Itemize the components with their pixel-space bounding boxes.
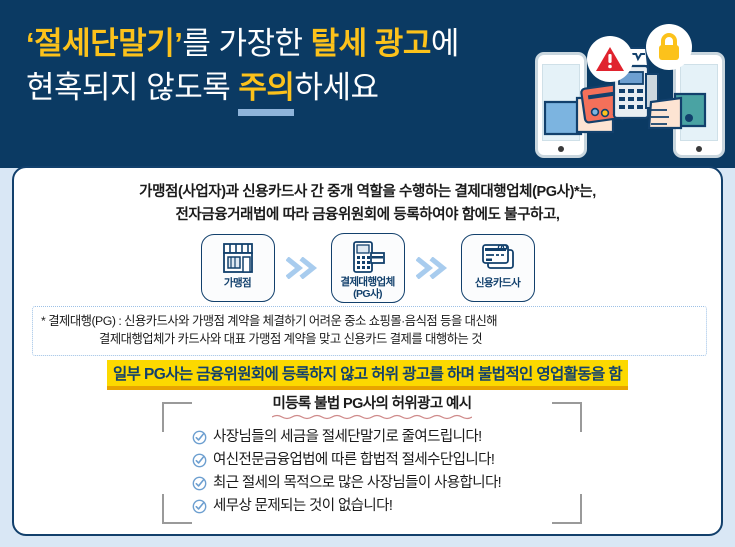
list-item-label: 최근 절세의 목적으로 많은 사장님들이 사용합니다! (213, 472, 501, 494)
lock-badge (646, 24, 692, 70)
intro-paragraph: 가맹점(사업자)과 신용카드사 간 중개 역할을 수행하는 결제대행업체(PG사… (14, 181, 721, 228)
pg-flow-diagram: 가맹점 (14, 230, 721, 306)
examples-section: 미등록 불법 PG사의 허위광고 예시 사장님들의 세금을 절세단말기로 줄여드… (162, 392, 582, 524)
headline-line-2: 현혹되지 않도록 주의하세요 (26, 66, 566, 110)
flow-arrow-2 (414, 257, 452, 279)
double-chevron-right-icon (416, 257, 450, 279)
headline-emphasis-2: 탈세 광고 (311, 26, 431, 61)
check-circle-icon (192, 476, 207, 491)
list-item-label: 사장님들의 세금을 절세단말기로 줄여드립니다! (213, 426, 482, 448)
headline-plain-3: 현혹되지 않도록 (26, 70, 238, 105)
warning-badge (587, 36, 633, 82)
check-circle-icon (192, 430, 207, 445)
check-circle-icon (192, 499, 207, 514)
headline-line-1: ‘절세단말기’를 가장한 탈세 광고에 (26, 22, 566, 66)
flow-step-merchant: 가맹점 (201, 234, 275, 302)
wavy-underline-icon (272, 414, 472, 420)
headline-plain-4: 하세요 (294, 70, 378, 105)
flow-step-pg-label-line1: 결제대행업체 (340, 276, 394, 288)
main-content-card: 가맹점(사업자)과 신용카드사 간 중개 역할을 수행하는 결제대행업체(PG사… (12, 166, 723, 536)
check-circle-icon (192, 453, 207, 468)
headline-plain-1: 를 가장한 (182, 26, 310, 61)
flow-step-pg-label-line2: (PG사) (353, 288, 382, 300)
card-terminal-icon (349, 239, 387, 275)
hand-pressing-terminal-icon (641, 84, 707, 140)
double-chevron-right-icon (286, 257, 320, 279)
warning-triangle-icon (595, 45, 625, 73)
flow-step-cardcompany: 신용카드사 (461, 234, 535, 302)
header-illustration (529, 18, 729, 166)
flow-step-pg-label: 결제대행업체 (PG사) (340, 277, 394, 301)
credit-cards-icon (479, 240, 517, 276)
flow-step-cardcompany-label: 신용카드사 (475, 278, 520, 290)
highlight-text: 일부 PG사는 금융위원회에 등록하지 않고 허위 광고를 하며 불법적인 영업… (107, 360, 628, 386)
storefront-icon (220, 240, 256, 276)
intro-line-1-text: 가맹점(사업자)과 신용카드사 간 중개 역할을 수행하는 결제대행업체(PG사… (139, 184, 596, 200)
intro-paragraph-line-1: 가맹점(사업자)과 신용카드사 간 중개 역할을 수행하는 결제대행업체(PG사… (14, 181, 721, 204)
page-title: ‘절세단말기’를 가장한 탈세 광고에 현혹되지 않도록 주의하세요 (26, 22, 566, 110)
examples-title-wrap: 미등록 불법 PG사의 허위광고 예시 (162, 392, 582, 413)
padlock-icon (655, 32, 683, 62)
header-banner: ‘절세단말기’를 가장한 탈세 광고에 현혹되지 않도록 주의하세요 (0, 0, 735, 168)
phone-home-button (558, 146, 564, 152)
flow-step-pg: 결제대행업체 (PG사) (331, 233, 405, 303)
headline-emphasis-1: ‘절세단말기’ (26, 26, 182, 61)
headline-plain-2: 에 (431, 26, 459, 61)
bracket-corner-bottom-right (552, 494, 582, 524)
phone-home-button (696, 146, 702, 152)
list-item-label: 여신전문금융업법에 따른 합법적 절세수단입니다! (213, 449, 494, 471)
intro-line-2-text: 전자금융거래법에 따라 금융위원회에 등록하여야 함에도 불구하고, (175, 207, 559, 223)
list-item-label: 세무상 문제되는 것이 없습니다! (213, 495, 392, 517)
flow-step-merchant-label: 가맹점 (224, 278, 251, 290)
examples-title: 미등록 불법 PG사의 허위광고 예시 (272, 392, 471, 413)
list-item: 세무상 문제되는 것이 없습니다! (188, 495, 556, 517)
headline-emphasis-3: 주의 (238, 66, 294, 110)
list-item: 사장님들의 세금을 절세단말기로 줄여드립니다! (188, 426, 556, 448)
fake-ad-examples-list: 사장님들의 세금을 절세단말기로 줄여드립니다! 여신전문금융업법에 따른 합법… (188, 426, 556, 518)
list-item: 최근 절세의 목적으로 많은 사장님들이 사용합니다! (188, 472, 556, 494)
footnote-line-2: 결제대행업체가 카드사와 대표 가맹점 계약을 맞고 신용카드 결제를 대행하는… (41, 330, 698, 348)
flow-arrow-1 (284, 257, 322, 279)
list-item: 여신전문금융업법에 따른 합법적 절세수단입니다! (188, 449, 556, 471)
footnote-line-1: * 결제대행(PG) : 신용카드사와 가맹점 계약을 체결하기 어려운 중소 … (41, 314, 497, 328)
examples-title-text: 미등록 불법 PG사의 허위광고 예시 (272, 396, 471, 412)
intro-paragraph-line-2: 전자금융거래법에 따라 금융위원회에 등록하여야 함에도 불구하고, (14, 204, 721, 227)
footnote-box: * 결제대행(PG) : 신용카드사와 가맹점 계약을 체결하기 어려운 중소 … (32, 306, 707, 356)
highlight-banner: 일부 PG사는 금융위원회에 등록하지 않고 허위 광고를 하며 불법적인 영업… (14, 360, 721, 386)
